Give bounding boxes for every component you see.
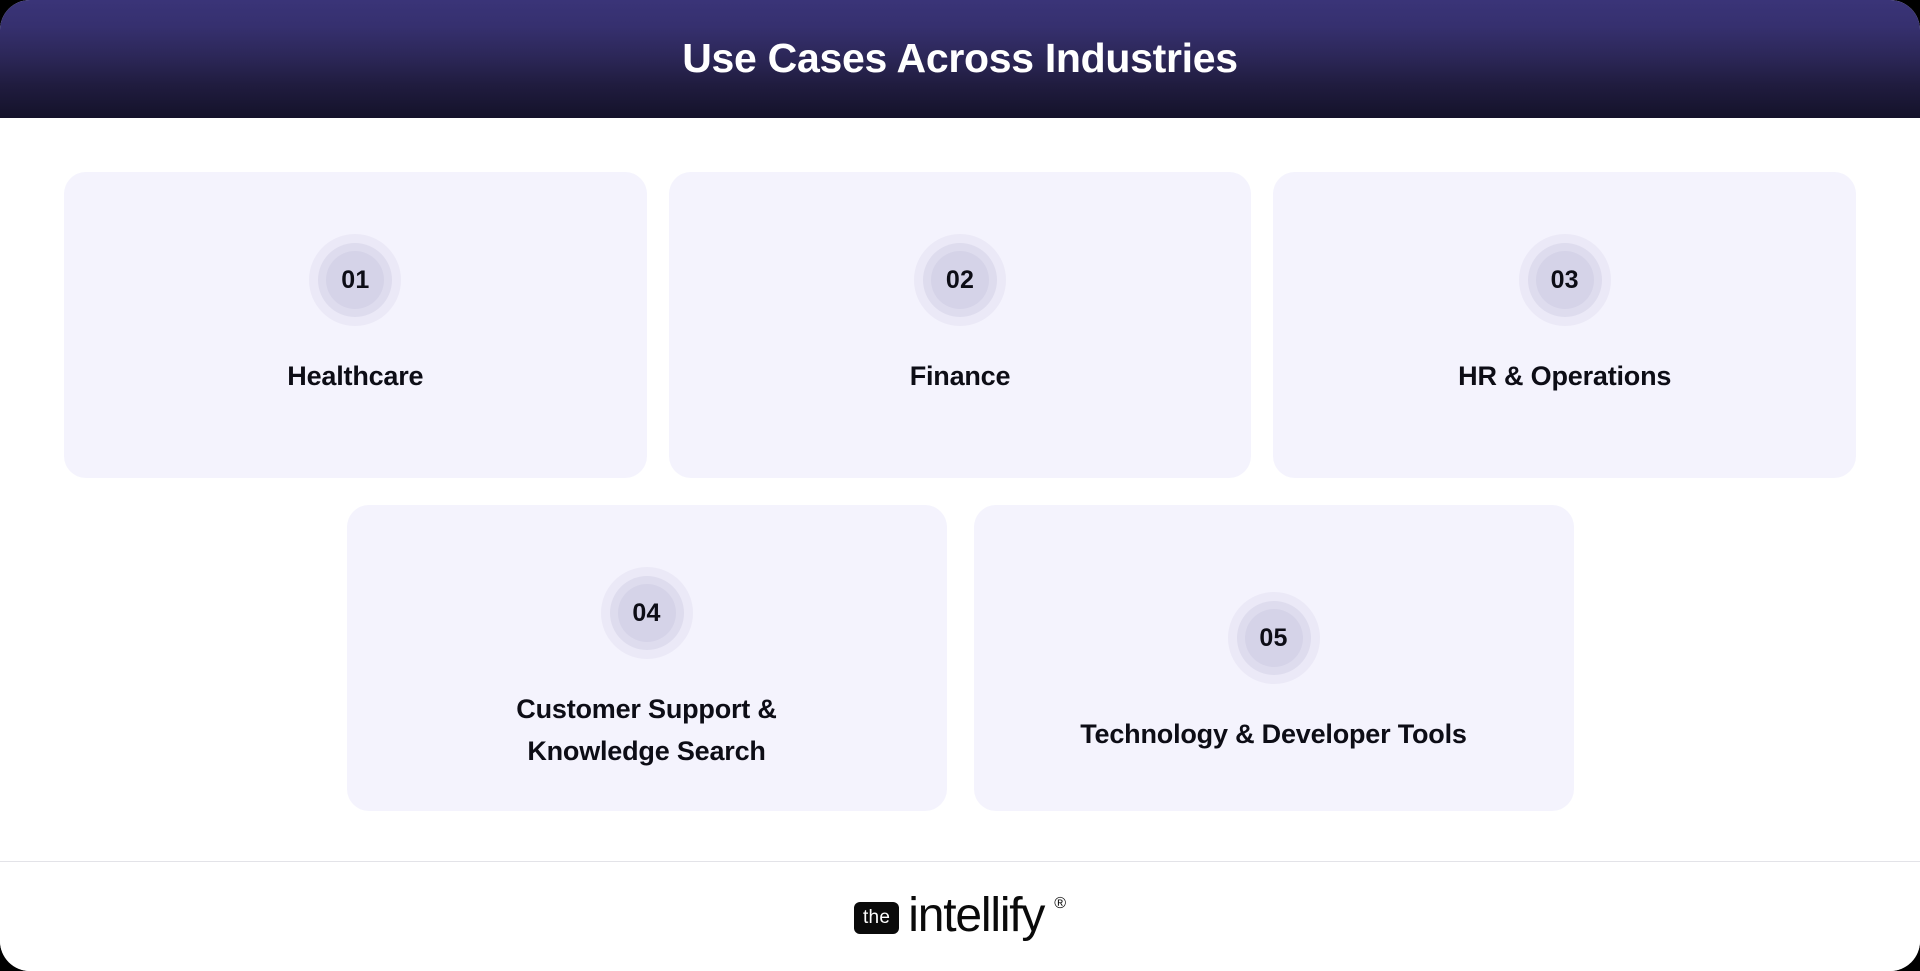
- number-badge: 05: [1224, 588, 1324, 688]
- brand-logo: the intellify ®: [854, 894, 1066, 938]
- use-case-card-finance[interactable]: 02 Finance: [669, 172, 1252, 478]
- card-number: 01: [341, 266, 369, 295]
- registered-trademark-icon: ®: [1054, 896, 1066, 912]
- card-row-1: 01 Healthcare 02 Finance 03: [0, 172, 1920, 478]
- slide-frame: Use Cases Across Industries 01 Healthcar…: [0, 0, 1920, 971]
- card-number: 04: [632, 599, 660, 628]
- main-content: 01 Healthcare 02 Finance 03: [0, 118, 1920, 861]
- number-badge: 01: [305, 230, 405, 330]
- use-case-card-healthcare[interactable]: 01 Healthcare: [64, 172, 647, 478]
- card-number: 02: [946, 266, 974, 295]
- use-case-card-hr-operations[interactable]: 03 HR & Operations: [1273, 172, 1856, 478]
- slide-header: Use Cases Across Industries: [0, 0, 1920, 118]
- card-row-2: 04 Customer Support & Knowledge Search 0…: [0, 505, 1920, 811]
- card-label: Healthcare: [265, 356, 445, 398]
- logo-wordmark: intellify: [908, 894, 1044, 938]
- use-case-card-technology-developer-tools[interactable]: 05 Technology & Developer Tools: [974, 505, 1574, 811]
- card-label: HR & Operations: [1436, 356, 1693, 398]
- card-number: 05: [1259, 624, 1287, 653]
- slide-footer: the intellify ®: [0, 861, 1920, 971]
- card-number: 03: [1551, 266, 1579, 295]
- use-case-card-customer-support[interactable]: 04 Customer Support & Knowledge Search: [347, 505, 947, 811]
- page-title: Use Cases Across Industries: [682, 36, 1238, 81]
- card-label: Customer Support & Knowledge Search: [447, 689, 847, 773]
- number-badge: 02: [910, 230, 1010, 330]
- number-badge: 04: [597, 563, 697, 663]
- number-badge: 03: [1515, 230, 1615, 330]
- card-label: Finance: [888, 356, 1033, 398]
- logo-the-badge: the: [854, 902, 899, 934]
- card-label: Technology & Developer Tools: [1058, 714, 1488, 756]
